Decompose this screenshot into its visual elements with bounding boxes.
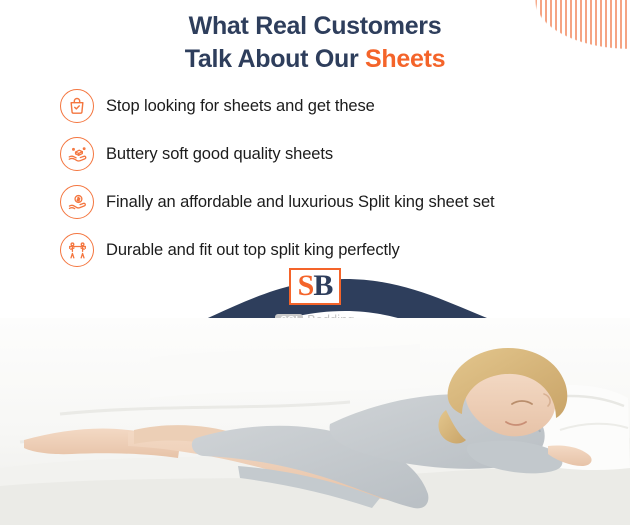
hand-coin-icon [60,185,94,219]
list-item-label: Durable and fit out top split king perfe… [106,241,400,260]
headline-line-2-prefix: Talk About Our [185,45,365,73]
hand-folded-linens-icon [60,137,94,171]
headline-accent-word: Sheets [365,45,445,73]
promo-poster: What Real Customers Talk About Our Sheet… [0,0,630,525]
shopping-bag-check-icon [60,89,94,123]
list-item: Buttery soft good quality sheets [60,134,620,174]
two-people-sheet-icon [60,233,94,267]
list-item: Finally an affordable and luxurious Spli… [60,182,620,222]
list-item-label: Stop looking for sheets and get these [106,97,375,116]
page-title: What Real Customers Talk About Our Sheet… [0,10,630,76]
list-item-label: Finally an affordable and luxurious Spli… [106,193,495,212]
headline-line-1: What Real Customers [0,10,630,43]
headline-line-2: Talk About Our Sheets [0,43,630,76]
list-item: Durable and fit out top split king perfe… [60,230,620,270]
benefits-list: Stop looking for sheets and get these Bu… [60,86,620,278]
list-item: Stop looking for sheets and get these [60,86,620,126]
product-photo [0,318,630,525]
list-item-label: Buttery soft good quality sheets [106,145,333,164]
